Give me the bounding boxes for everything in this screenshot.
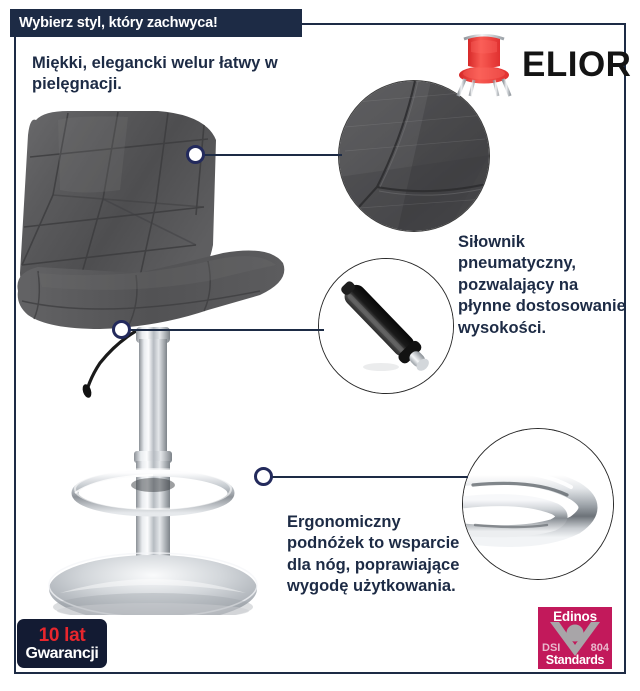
connector-line-velvet [196,154,342,156]
brand-name: ELIOR [522,47,631,82]
product-infographic: Wybierz styl, który zachwyca! [0,0,640,691]
certificate-badge-edinos: Edinos DSI 804 Standards [538,607,612,669]
warranty-badge: 10 lat Gwarancji [17,619,107,668]
feature-text-gas-lift: Siłownik pneumatyczny, pozwalający na pł… [458,232,626,339]
marker-ring-gas-lift [112,320,131,339]
marker-ring-velvet [186,145,205,164]
product-image-bar-stool [8,95,298,615]
marker-ring-footrest [254,467,273,486]
callout-chrome-footrest [462,428,614,580]
connector-line-gas-lift [122,329,324,331]
connector-line-footrest [264,476,468,478]
feature-text-footrest: Ergonomiczny podnóżek to wsparcie dla nó… [287,512,477,598]
certificate-label: Standards [538,653,612,667]
feature-text-velvet: Miękki, elegancki welur łatwy w pielęgna… [32,53,347,96]
callout-velvet-fabric [338,80,490,232]
header-ribbon: Wybierz styl, który zachwyca! [10,9,302,37]
page-title: Wybierz styl, który zachwyca! [19,15,218,31]
certificate-brand: Edinos [538,609,612,624]
brand-logo: ELIOR [452,28,622,100]
callout-gas-lift-cylinder [318,258,454,394]
warranty-years: 10 lat [39,626,86,645]
red-chair-icon [452,30,516,98]
warranty-label: Gwarancji [26,646,99,662]
